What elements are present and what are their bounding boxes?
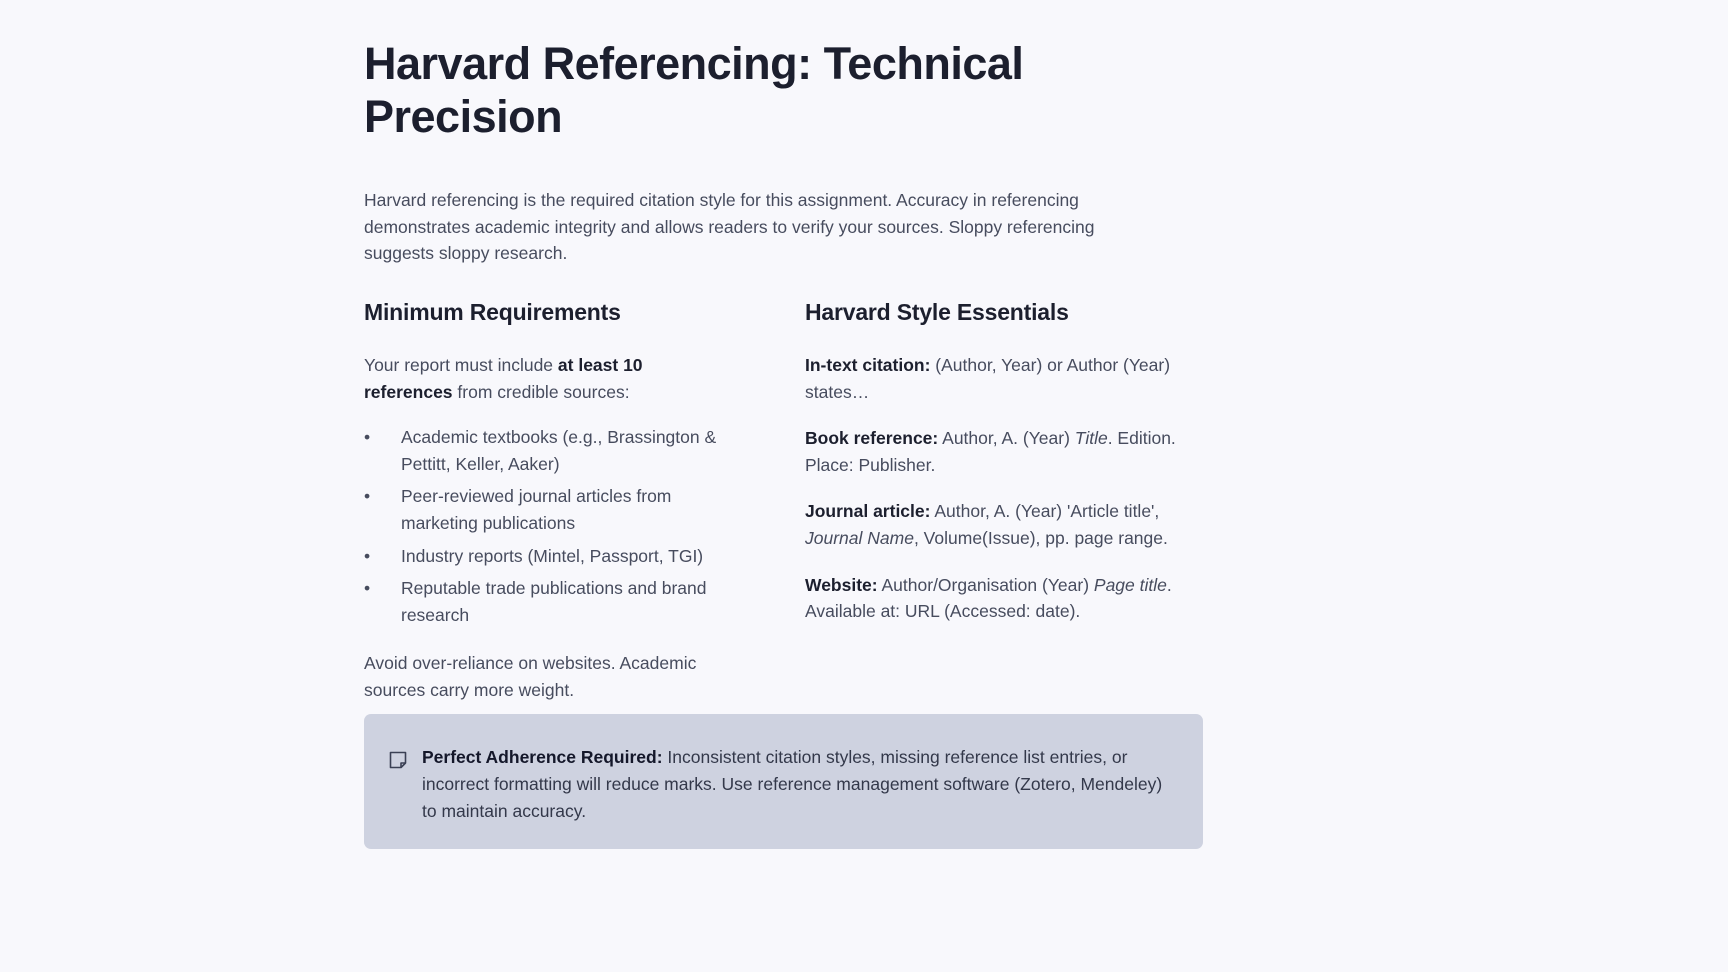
sources-list: •Academic textbooks (e.g., Brassington &… xyxy=(364,424,805,628)
list-item-label: Academic textbooks (e.g., Brassington & … xyxy=(401,427,716,474)
style-entry-label: Book reference: xyxy=(805,428,938,448)
bullet-dot-icon: • xyxy=(364,483,370,510)
callout-label: Perfect Adherence Required: xyxy=(422,747,663,767)
style-entry-italic: Title xyxy=(1075,428,1108,448)
callout-text: Perfect Adherence Required: Inconsistent… xyxy=(422,736,1179,825)
minimum-requirements-heading: Minimum Requirements xyxy=(364,299,805,326)
bullet-dot-icon: • xyxy=(364,543,370,570)
minimum-requirements-lead: Your report must include at least 10 ref… xyxy=(364,352,694,405)
list-item-label: Peer-reviewed journal articles from mark… xyxy=(401,486,671,533)
bullet-dot-icon: • xyxy=(364,575,370,602)
list-item: •Peer-reviewed journal articles from mar… xyxy=(364,483,746,536)
callout-box: Perfect Adherence Required: Inconsistent… xyxy=(364,714,1203,849)
list-item: •Industry reports (Mintel, Passport, TGI… xyxy=(364,543,746,570)
style-entry-label: Website: xyxy=(805,575,878,595)
list-item: •Reputable trade publications and brand … xyxy=(364,575,746,628)
harvard-style-essentials-column: Harvard Style Essentials In-text citatio… xyxy=(805,299,1204,704)
style-entry-journal-article: Journal article: Author, A. (Year) 'Arti… xyxy=(805,498,1205,551)
sticky-note-icon xyxy=(388,750,408,770)
style-entry-text: Author/Organisation (Year) xyxy=(878,575,1094,595)
style-entry-text-2: , Volume(Issue), pp. page range. xyxy=(914,528,1168,548)
style-entry-book-reference: Book reference: Author, A. (Year) Title.… xyxy=(805,425,1205,478)
style-entry-italic: Journal Name xyxy=(805,528,914,548)
style-entry-website: Website: Author/Organisation (Year) Page… xyxy=(805,572,1205,625)
style-entry-label: In-text citation: xyxy=(805,355,930,375)
sources-closing-note: Avoid over-reliance on websites. Academi… xyxy=(364,650,724,703)
list-item-label: Industry reports (Mintel, Passport, TGI) xyxy=(401,546,703,566)
page-title: Harvard Referencing: Technical Precision xyxy=(364,38,1124,143)
minimum-requirements-column: Minimum Requirements Your report must in… xyxy=(364,299,805,704)
lead-suffix: from credible sources: xyxy=(453,382,630,402)
intro-paragraph: Harvard referencing is the required cita… xyxy=(364,187,1154,267)
list-item-label: Reputable trade publications and brand r… xyxy=(401,578,707,625)
style-entry-label: Journal article: xyxy=(805,501,930,521)
style-entry-text: Author, A. (Year) 'Article title', xyxy=(930,501,1159,521)
list-item: •Academic textbooks (e.g., Brassington &… xyxy=(364,424,746,477)
bullet-dot-icon: • xyxy=(364,424,370,451)
content-area: Harvard Referencing: Technical Precision… xyxy=(364,38,1204,704)
style-entry-italic: Page title xyxy=(1094,575,1167,595)
harvard-style-essentials-heading: Harvard Style Essentials xyxy=(805,299,1204,326)
two-column-grid: Minimum Requirements Your report must in… xyxy=(364,299,1204,704)
slide-page: Harvard Referencing: Technical Precision… xyxy=(0,0,1728,972)
lead-prefix: Your report must include xyxy=(364,355,558,375)
style-entry-text: Author, A. (Year) xyxy=(938,428,1075,448)
style-entry-in-text-citation: In-text citation: (Author, Year) or Auth… xyxy=(805,352,1205,405)
